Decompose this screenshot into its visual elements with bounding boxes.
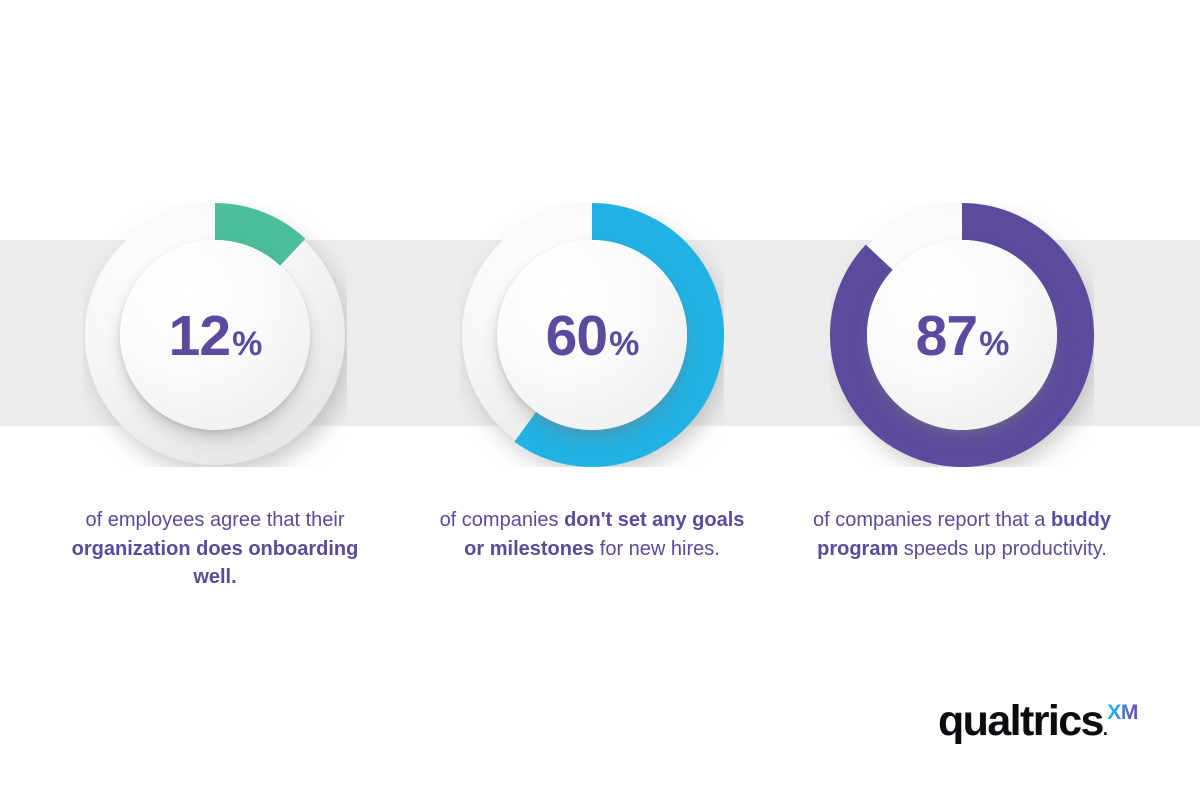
- donut-value-number-2: 87: [916, 308, 977, 365]
- logo-wordmark: qualtrics.: [938, 700, 1106, 743]
- donut-chart-1: 60%: [427, 170, 757, 500]
- donut-ring-1: 60%: [460, 203, 724, 467]
- donut-percent-symbol-2: %: [979, 327, 1008, 361]
- donut-percent-symbol-1: %: [609, 327, 638, 361]
- caption-1-part-2: for new hires.: [594, 538, 720, 560]
- caption-2-part-0: of companies report that a: [813, 509, 1051, 531]
- caption-0-part-0: of employees agree that their: [85, 509, 344, 531]
- donut-value-number-0: 12: [169, 308, 230, 365]
- donut-caption-0: of employees agree that their organizati…: [50, 506, 380, 592]
- donut-percent-symbol-0: %: [232, 327, 261, 361]
- donut-value-number-1: 60: [546, 308, 607, 365]
- caption-0-part-1: organization does onboarding well.: [72, 538, 359, 589]
- donut-caption-1: of companies don't set any goals or mile…: [427, 506, 757, 563]
- qualtrics-logo[interactable]: qualtrics. XM: [938, 700, 1138, 743]
- donut-center-disc-0: 12%: [120, 240, 310, 430]
- infographic-canvas: 12% of employees agree that their organi…: [0, 0, 1200, 800]
- donut-center-disc-1: 60%: [497, 240, 687, 430]
- donut-chart-2: 87%: [797, 170, 1127, 500]
- logo-xm-superscript: XM: [1107, 702, 1138, 723]
- donut-chart-0: 12%: [50, 170, 380, 500]
- caption-2-part-2: speeds up productivity.: [898, 538, 1107, 560]
- donut-caption-2: of companies report that a buddy program…: [797, 506, 1127, 563]
- donut-ring-2: 87%: [830, 203, 1094, 467]
- donut-value-0: 12%: [169, 308, 262, 365]
- donut-value-1: 60%: [546, 308, 639, 365]
- logo-period: .: [1103, 719, 1106, 739]
- donut-ring-0: 12%: [83, 203, 347, 467]
- donut-value-2: 87%: [916, 308, 1009, 365]
- donut-center-disc-2: 87%: [867, 240, 1057, 430]
- caption-1-part-0: of companies: [440, 509, 565, 531]
